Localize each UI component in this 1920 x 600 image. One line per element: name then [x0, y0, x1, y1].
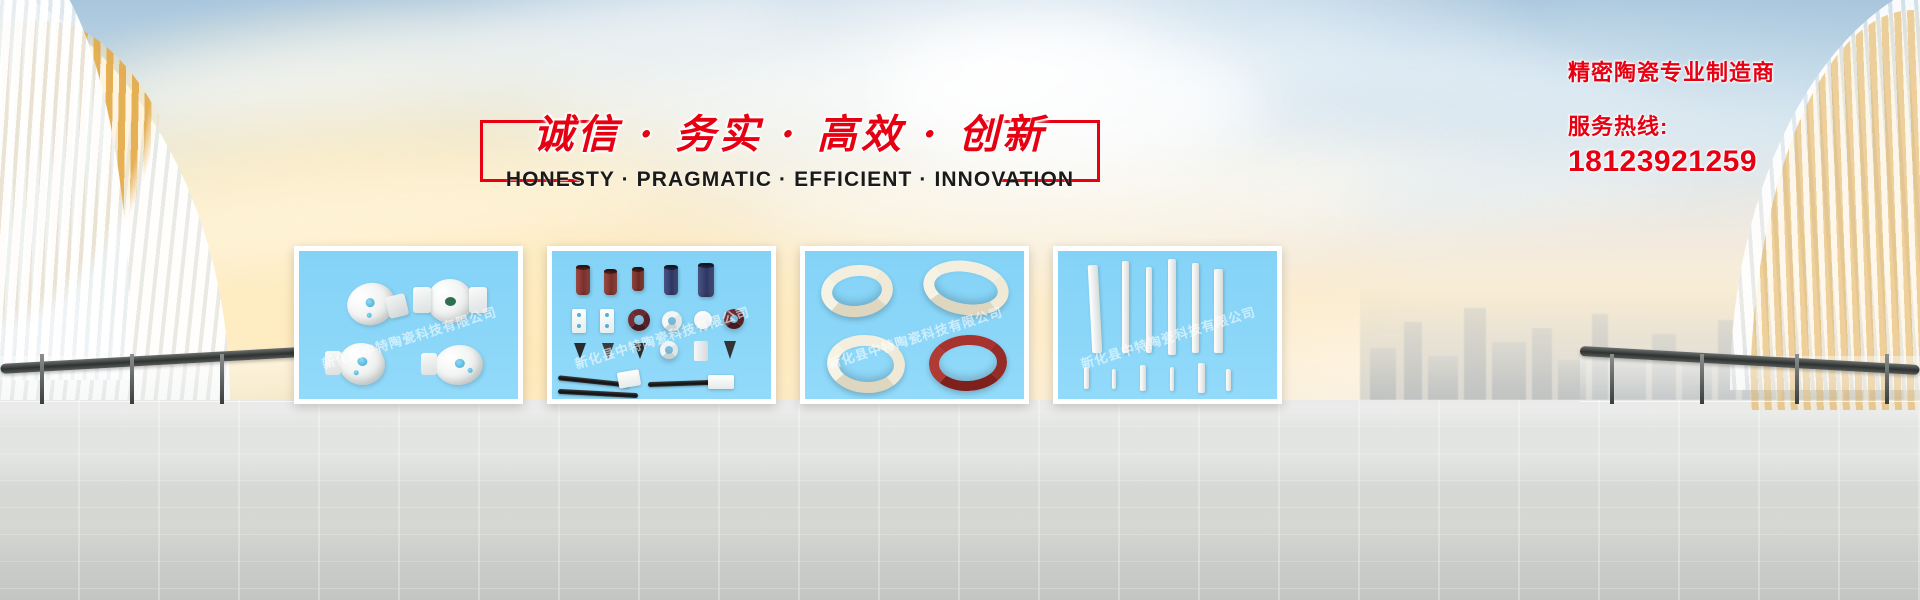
- ceramic-cone-tip: [724, 341, 736, 359]
- insulator-tab: [325, 351, 341, 375]
- product-panel-1[interactable]: 新化县中特陶瓷科技有限公司: [294, 246, 523, 404]
- ceramic-ring-large-red: [928, 333, 1009, 393]
- company-tagline: 精密陶瓷专业制造商: [1568, 55, 1898, 87]
- ceramic-block: [694, 341, 708, 361]
- ceramic-ring-large-cream: [818, 261, 895, 320]
- contact-block: 精密陶瓷专业制造商 服务热线: 18123921259: [1568, 55, 1898, 179]
- ceramic-cone-tip: [634, 343, 646, 359]
- insulator-tab: [421, 353, 437, 375]
- ceramic-rod: [1122, 261, 1129, 353]
- insulator-hole: [357, 356, 368, 366]
- wire-cable: [558, 389, 638, 398]
- ceramic-pin: [1170, 367, 1174, 391]
- ceramic-rod: [1146, 267, 1152, 353]
- ceramic-ring-large-cream: [825, 332, 907, 395]
- ceramic-disc: [694, 311, 712, 329]
- ceramic-tube-red: [632, 267, 644, 291]
- plaza-floor: [0, 400, 1920, 600]
- ceramic-tube-blue: [664, 265, 678, 295]
- ceramic-insulator-stem: [385, 293, 410, 319]
- ceramic-insulator-part: [433, 343, 485, 388]
- ceramic-rod: [1214, 269, 1223, 353]
- product-panel-3[interactable]: 新化县中特陶瓷科技有限公司: [800, 246, 1029, 404]
- plate-hole: [577, 324, 581, 328]
- product-panel-3-image: 新化县中特陶瓷科技有限公司: [805, 251, 1024, 399]
- slogan-chinese: 诚信 · 务实 · 高效 · 创新: [480, 102, 1100, 160]
- ceramic-ring-small-white: [662, 311, 682, 331]
- ceramic-cone-tip: [602, 343, 614, 359]
- plate-hole: [605, 313, 609, 317]
- ceramic-pin: [1112, 369, 1116, 389]
- cable-connector: [617, 369, 641, 389]
- insulator-tab: [469, 287, 487, 313]
- ceramic-rod: [1192, 263, 1199, 353]
- product-panel-2-image: 新化县中特陶瓷科技有限公司: [552, 251, 771, 399]
- hotline-phone-number[interactable]: 18123921259: [1568, 145, 1898, 179]
- wire-cable: [648, 380, 712, 387]
- insulator-hole: [366, 312, 372, 318]
- ceramic-ring-large-cream: [919, 255, 1012, 322]
- insulator-hole: [365, 297, 376, 308]
- ceramic-rod: [1168, 259, 1176, 355]
- product-panel-4-image: 新化县中特陶瓷科技有限公司: [1058, 251, 1277, 399]
- ceramic-plate: [600, 309, 614, 333]
- insulator-hole: [454, 358, 465, 368]
- ceramic-pin: [1198, 363, 1205, 393]
- panel-watermark: 新化县中特陶瓷科技有限公司: [572, 301, 752, 372]
- ceramic-pin: [1226, 369, 1231, 391]
- plate-hole: [605, 324, 609, 328]
- product-panel-row: 新化县中特陶瓷科技有限公司: [294, 246, 1282, 404]
- insulator-hole: [445, 297, 456, 306]
- ceramic-tube-blue: [698, 263, 714, 297]
- hotline-label: 服务热线:: [1568, 109, 1898, 141]
- ceramic-plate: [572, 309, 586, 333]
- hero-banner: 诚信 · 务实 · 高效 · 创新 HONESTY · PRAGMATIC · …: [0, 0, 1920, 600]
- ceramic-rod: [1088, 265, 1103, 353]
- ceramic-pin: [1084, 367, 1089, 389]
- slogan-english: HONESTY · PRAGMATIC · EFFICIENT · INNOVA…: [480, 168, 1100, 192]
- insulator-hole: [467, 368, 472, 373]
- insulator-hole: [353, 370, 359, 376]
- ceramic-pin: [1140, 365, 1146, 391]
- product-panel-4[interactable]: 新化县中特陶瓷科技有限公司: [1053, 246, 1282, 404]
- ceramic-tube-red: [576, 265, 590, 295]
- ceramic-cone-tip: [574, 343, 586, 359]
- product-panel-2[interactable]: 新化县中特陶瓷科技有限公司: [547, 246, 776, 404]
- slogan-block: 诚信 · 务实 · 高效 · 创新 HONESTY · PRAGMATIC · …: [480, 108, 1100, 198]
- ceramic-tube-red: [604, 269, 617, 295]
- plate-hole: [577, 313, 581, 317]
- ceramic-ring-small-red: [724, 309, 744, 329]
- ceramic-insulator-part: [427, 279, 473, 323]
- cable-connector: [708, 375, 734, 389]
- ceramic-ring-small-white: [660, 341, 678, 359]
- insulator-tab: [413, 287, 431, 313]
- ceramic-insulator-part: [336, 340, 387, 388]
- ceramic-ring-small-red: [628, 309, 650, 331]
- product-panel-1-image: 新化县中特陶瓷科技有限公司: [299, 251, 518, 399]
